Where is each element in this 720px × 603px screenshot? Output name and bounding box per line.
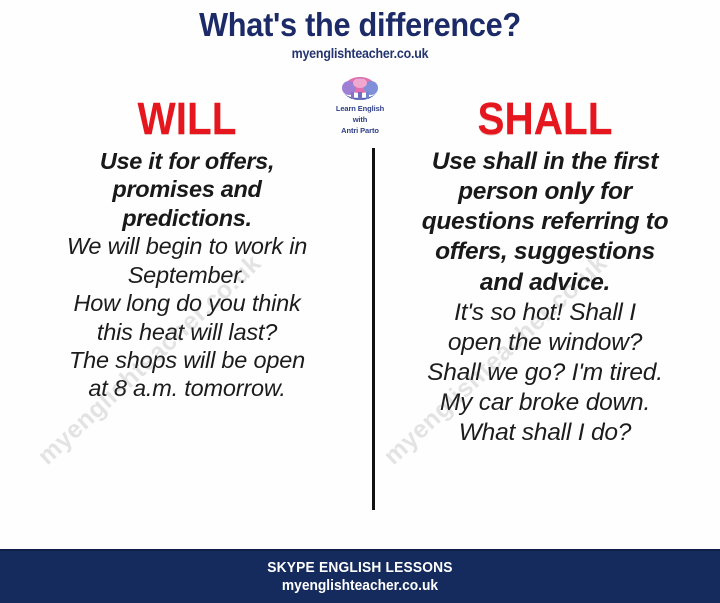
infographic-page: What's the difference? myenglishteacher.…: [0, 0, 720, 603]
shall-example-line: My car broke down.: [380, 388, 710, 418]
shall-example-line: What shall I do?: [380, 418, 710, 448]
will-rule-line: predictions.: [14, 204, 360, 232]
column-will: WILL Use it for offers, promises and pre…: [14, 96, 360, 403]
shall-rule-line: Use shall in the first: [380, 147, 710, 177]
page-title: What's the difference?: [25, 8, 695, 43]
will-example-line: How long do you think: [14, 289, 360, 317]
column-heading-shall: SHALL: [397, 96, 694, 141]
shall-rule-text: Use shall in the first person only for q…: [380, 147, 710, 298]
column-heading-will: WILL: [31, 96, 342, 141]
will-example-line: at 8 a.m. tomorrow.: [14, 374, 360, 402]
will-rule-line: Use it for offers,: [14, 147, 360, 175]
shall-example-line: It's so hot! Shall I: [380, 298, 710, 328]
shall-rule-line: offers, suggestions: [380, 237, 710, 267]
will-rule-line: promises and: [14, 175, 360, 203]
header: What's the difference? myenglishteacher.…: [0, 0, 720, 61]
will-example-line: We will begin to work in: [14, 232, 360, 260]
footer-title: SKYPE ENGLISH LESSONS: [18, 560, 702, 576]
will-example-line: this heat will last?: [14, 318, 360, 346]
will-rule-text: Use it for offers, promises and predicti…: [14, 147, 360, 232]
column-divider: [372, 148, 375, 510]
shall-rule-line: person only for: [380, 177, 710, 207]
shall-example-line: Shall we go? I'm tired.: [380, 358, 710, 388]
footer-url: myenglishteacher.co.uk: [18, 578, 702, 594]
shall-example-line: open the window?: [380, 328, 710, 358]
column-shall: SHALL Use shall in the first person only…: [380, 96, 710, 448]
will-examples: We will begin to work in September. How …: [14, 232, 360, 403]
shall-rule-line: questions referring to: [380, 207, 710, 237]
footer-bar: SKYPE ENGLISH LESSONS myenglishteacher.c…: [0, 549, 720, 603]
will-example-line: September.: [14, 261, 360, 289]
site-url-subtitle: myenglishteacher.co.uk: [29, 46, 691, 61]
will-example-line: The shops will be open: [14, 346, 360, 374]
shall-examples: It's so hot! Shall I open the window? Sh…: [380, 298, 710, 449]
shall-rule-line: and advice.: [380, 268, 710, 298]
